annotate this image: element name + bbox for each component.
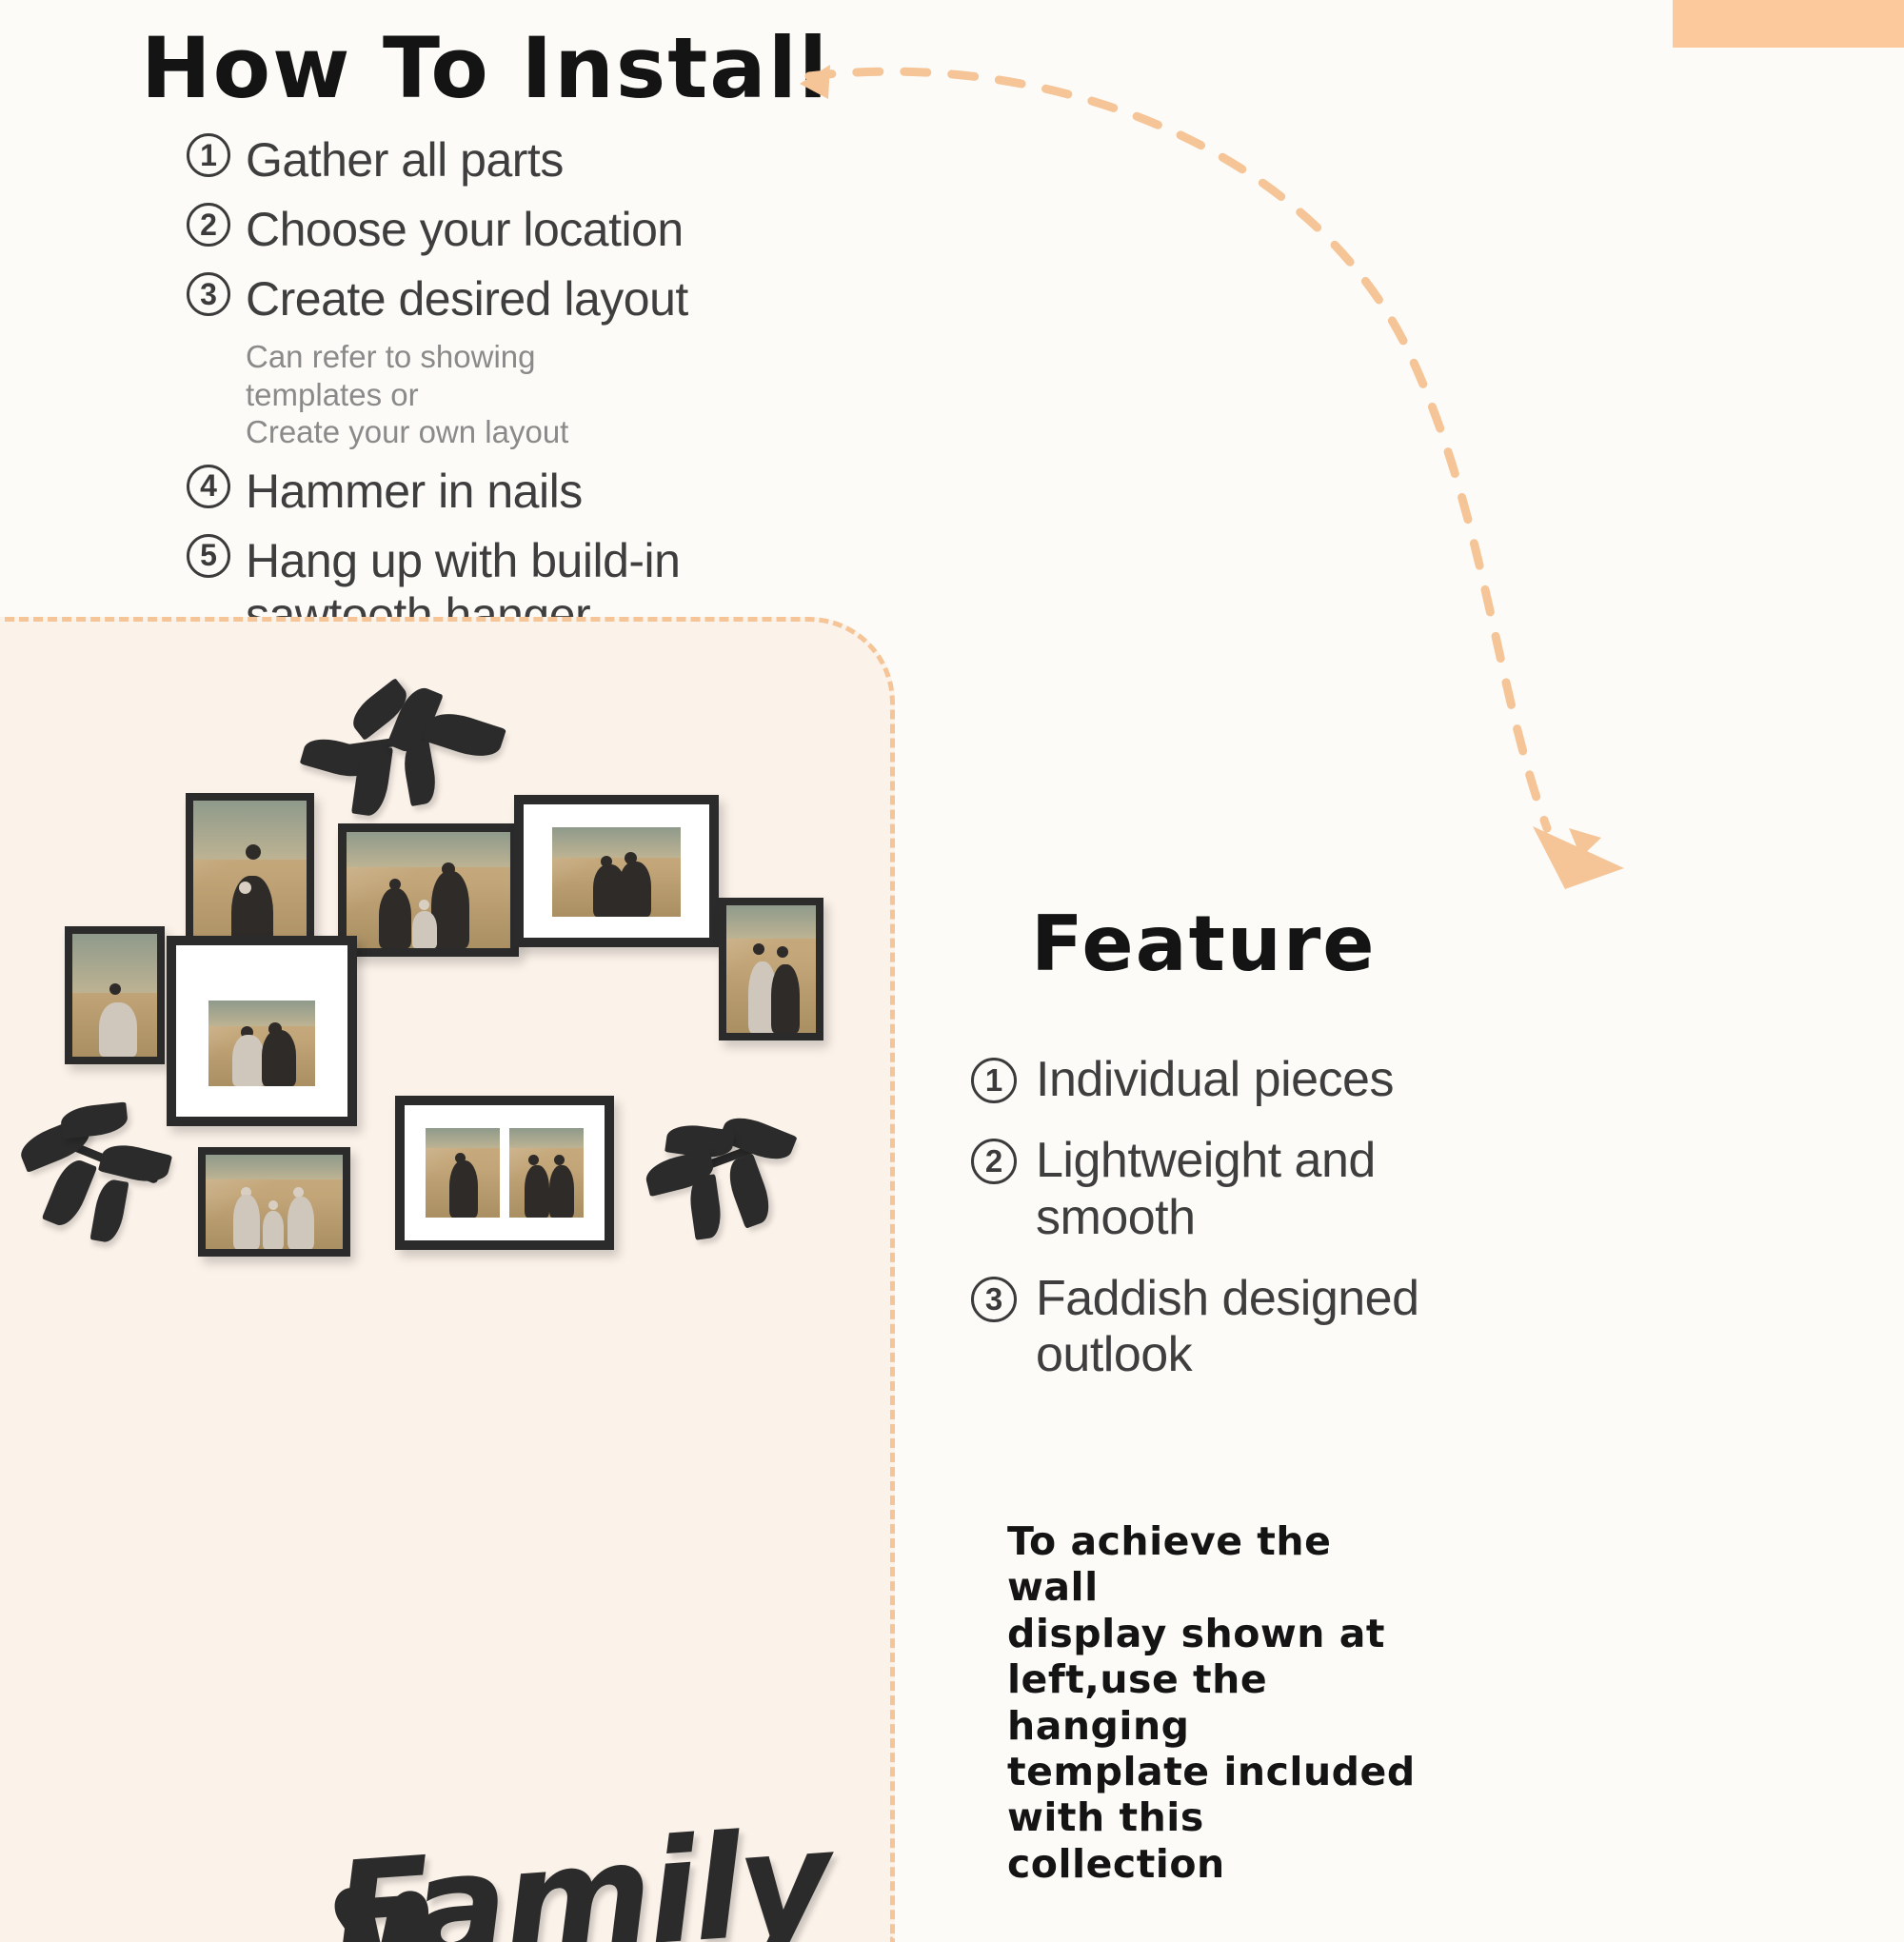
photo-frame-large-matted-square — [167, 936, 357, 1126]
install-step-3: 3 Create desired layout — [187, 272, 929, 327]
install-step-3-notes: Can refer to showing templates or Create… — [246, 338, 929, 451]
install-step-1: 1 Gather all parts — [187, 133, 929, 188]
page-title-feature: Feature — [1031, 904, 1377, 984]
step-note-line: Create your own layout — [246, 413, 929, 451]
callout-line: left,use the hanging — [1007, 1656, 1417, 1749]
step-number-circle: 3 — [187, 272, 230, 316]
photo-frame-center-landscape — [338, 823, 519, 957]
callout-line: To achieve the wall — [1007, 1518, 1417, 1611]
feature-number-circle: 2 — [971, 1139, 1017, 1184]
photo-frame-bottom-double-matted — [395, 1096, 614, 1250]
leaf-branch-top-icon — [286, 679, 505, 803]
feature-item-3: 3 Faddish designed outlook — [971, 1271, 1695, 1384]
feature-number-circle: 3 — [971, 1277, 1017, 1322]
step-label: Choose your location — [246, 203, 684, 257]
product-showcase-panel: Family — [0, 617, 895, 1942]
step-number-circle: 5 — [187, 534, 230, 578]
step-number-circle: 4 — [187, 465, 230, 508]
step-note-line: Can refer to showing — [246, 338, 929, 376]
feature-label: Individual pieces — [1036, 1052, 1394, 1108]
hanging-template-callout: To achieve the wall display shown at lef… — [1007, 1518, 1417, 1887]
callout-line: display shown at — [1007, 1611, 1417, 1656]
leaf-branch-right-icon — [628, 1098, 800, 1250]
photo-frame-right-portrait — [719, 898, 823, 1040]
photo-frame-bottom-left — [198, 1147, 350, 1257]
step-label: Hammer in nails — [246, 465, 583, 519]
feature-item-1: 1 Individual pieces — [971, 1052, 1695, 1108]
install-steps-list: 1 Gather all parts 2 Choose your locatio… — [187, 133, 929, 658]
callout-line: template included — [1007, 1749, 1417, 1794]
step-number-circle: 1 — [187, 133, 230, 177]
callout-line: with this collection — [1007, 1794, 1417, 1887]
tree-trunk-icon — [181, 1833, 581, 1942]
leaf-branch-left-icon — [19, 1088, 190, 1240]
step-label: Create desired layout — [246, 272, 688, 327]
step-label: Gather all parts — [246, 133, 564, 188]
install-step-2: 2 Choose your location — [187, 203, 929, 257]
step-number-circle: 2 — [187, 203, 230, 247]
install-step-4: 4 Hammer in nails — [187, 465, 929, 519]
feature-label: Lightweight and smooth — [1036, 1133, 1531, 1246]
infographic-root: How To Install 1 Gather all parts 2 Choo… — [0, 0, 1904, 1904]
step-note-line: templates or — [246, 376, 929, 414]
corner-accent-block — [1673, 0, 1904, 48]
photo-frame-far-left — [65, 926, 165, 1064]
feature-list: 1 Individual pieces 2 Lightweight and sm… — [971, 1052, 1695, 1408]
page-title-how-to-install: How To Install — [141, 25, 829, 112]
feature-number-circle: 1 — [971, 1058, 1017, 1103]
photo-frame-upper-right-matted — [514, 795, 719, 947]
feature-label: Faddish designed outlook — [1036, 1271, 1569, 1384]
feature-item-2: 2 Lightweight and smooth — [971, 1133, 1695, 1246]
